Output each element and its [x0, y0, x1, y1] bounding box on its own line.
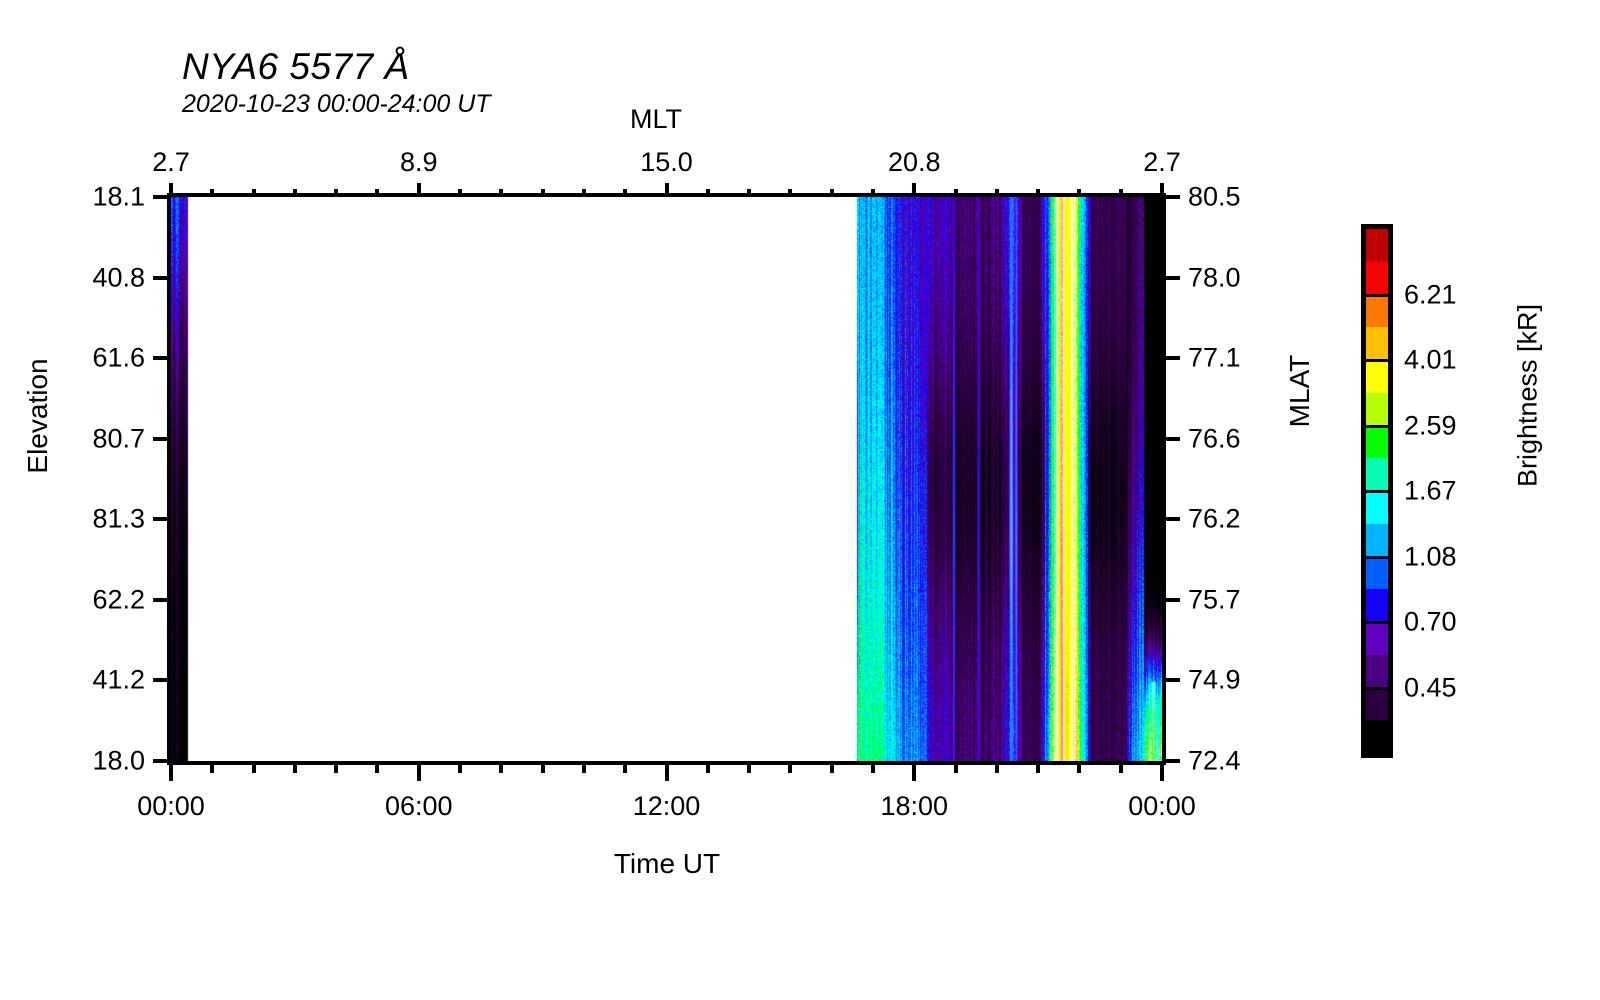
x-axis-minor-tick — [830, 763, 834, 773]
y2-axis-tick — [1162, 195, 1180, 199]
y-axis-tick-label: 62.2 — [0, 584, 145, 615]
x-axis-tick-label: 06:00 — [385, 791, 453, 822]
colorbar-divider — [1366, 490, 1388, 493]
y-axis-tick — [153, 678, 171, 682]
top-axis-tick-label: 8.9 — [400, 147, 438, 178]
top-axis-minor-tick — [623, 189, 627, 197]
colorbar-tick-label: 1.67 — [1404, 476, 1457, 507]
x-axis-major-tick — [912, 763, 916, 781]
x-axis-minor-tick — [210, 763, 214, 773]
y2-axis-tick-label: 76.6 — [1188, 423, 1241, 454]
colorbar-divider — [1366, 556, 1388, 559]
x-axis-major-tick — [665, 763, 669, 781]
x-axis-minor-tick — [541, 763, 545, 773]
colorbar-segment — [1366, 327, 1388, 360]
y2-axis-tick-label: 74.9 — [1188, 665, 1241, 696]
y-axis-tick-label: 61.6 — [0, 343, 145, 374]
y-axis-tick — [153, 276, 171, 280]
top-axis-minor-tick — [293, 189, 297, 197]
top-axis-tick-label: 15.0 — [640, 147, 693, 178]
y2-axis-tick — [1162, 759, 1180, 763]
top-axis-minor-tick — [706, 189, 710, 197]
keogram-figure: NYA6 5577 Å 2020-10-23 00:00-24:00 UT ML… — [0, 0, 1600, 1000]
top-axis-minor-tick — [830, 189, 834, 197]
top-axis-minor-tick — [954, 189, 958, 197]
top-axis-minor-tick — [1119, 189, 1123, 197]
top-axis-minor-tick — [871, 189, 875, 197]
x-axis-minor-tick — [1119, 763, 1123, 773]
colorbar-divider — [1366, 687, 1388, 690]
top-axis-title: MLT — [630, 104, 682, 135]
y-axis-tick — [153, 356, 171, 360]
colorbar-tick-label: 0.70 — [1404, 607, 1457, 638]
colorbar-segment — [1366, 491, 1388, 524]
keogram-image — [171, 197, 1162, 761]
colorbar-segment — [1366, 262, 1388, 295]
top-axis-minor-tick — [788, 189, 792, 197]
colorbar-axis-title: Brightness [kR] — [1513, 236, 1544, 556]
x-axis-tick-label: 12:00 — [633, 791, 701, 822]
y-axis-tick-label: 18.0 — [0, 746, 145, 777]
y2-axis-tick — [1162, 437, 1180, 441]
colorbar-segment — [1366, 622, 1388, 655]
colorbar-divider — [1366, 621, 1388, 624]
colorbar-segment — [1366, 426, 1388, 459]
top-axis-minor-tick — [210, 189, 214, 197]
y2-axis-tick-label: 77.1 — [1188, 343, 1241, 374]
y-axis-tick-label: 80.7 — [0, 423, 145, 454]
y2-axis-tick — [1162, 356, 1180, 360]
x-axis-minor-tick — [706, 763, 710, 773]
colorbar-segment — [1366, 688, 1388, 721]
colorbar-segment — [1366, 524, 1388, 557]
keogram-canvas — [171, 197, 1162, 761]
colorbar-tick-label: 6.21 — [1404, 279, 1457, 310]
y2-axis-tick-label: 80.5 — [1188, 182, 1241, 213]
colorbar-divider — [1366, 294, 1388, 297]
y2-axis-tick — [1162, 678, 1180, 682]
x-axis-minor-tick — [458, 763, 462, 773]
plot-area — [167, 193, 1166, 765]
y-axis-title: Elevation — [22, 306, 54, 526]
colorbar-tick-label: 0.45 — [1404, 672, 1457, 703]
colorbar-tick-label: 2.59 — [1404, 410, 1457, 441]
colorbar-segment — [1366, 393, 1388, 426]
top-axis-tick-label: 20.8 — [888, 147, 941, 178]
colorbar-segment — [1366, 295, 1388, 328]
top-axis-major-tick — [417, 183, 421, 197]
x-axis-minor-tick — [995, 763, 999, 773]
x-axis-minor-tick — [252, 763, 256, 773]
y2-axis-title: MLAT — [1284, 281, 1316, 501]
x-axis-major-tick — [1160, 763, 1164, 781]
y-axis-tick-label: 81.3 — [0, 504, 145, 535]
colorbar-segment — [1366, 557, 1388, 590]
top-axis-tick-label: 2.7 — [152, 147, 190, 178]
colorbar-segment — [1366, 720, 1388, 753]
top-axis-major-tick — [665, 183, 669, 197]
y-axis-tick-label: 40.8 — [0, 262, 145, 293]
y2-axis-tick — [1162, 517, 1180, 521]
x-axis-minor-tick — [582, 763, 586, 773]
top-axis-minor-tick — [582, 189, 586, 197]
top-axis-minor-tick — [375, 189, 379, 197]
colorbar-segment — [1366, 360, 1388, 393]
x-axis-minor-tick — [499, 763, 503, 773]
colorbar-tick-label: 1.08 — [1404, 541, 1457, 572]
y-axis-tick — [153, 598, 171, 602]
y-axis-tick — [153, 759, 171, 763]
colorbar-segment — [1366, 458, 1388, 491]
x-axis-minor-tick — [1036, 763, 1040, 773]
top-axis-tick-label: 2.7 — [1143, 147, 1181, 178]
y-axis-tick — [153, 195, 171, 199]
x-axis-title: Time UT — [0, 848, 1334, 880]
top-axis-minor-tick — [458, 189, 462, 197]
x-axis-minor-tick — [788, 763, 792, 773]
x-axis-minor-tick — [375, 763, 379, 773]
top-axis-minor-tick — [995, 189, 999, 197]
page-title: NYA6 5577 Å — [182, 46, 410, 88]
top-axis-minor-tick — [747, 189, 751, 197]
top-axis-minor-tick — [1036, 189, 1040, 197]
top-axis-minor-tick — [1077, 189, 1081, 197]
colorbar-segment — [1366, 655, 1388, 688]
x-axis-minor-tick — [747, 763, 751, 773]
x-axis-major-tick — [169, 763, 173, 781]
colorbar — [1361, 224, 1393, 758]
x-axis-tick-label: 00:00 — [1128, 791, 1196, 822]
y2-axis-tick — [1162, 598, 1180, 602]
top-axis-minor-tick — [541, 189, 545, 197]
x-axis-tick-label: 00:00 — [137, 791, 205, 822]
colorbar-divider — [1366, 425, 1388, 428]
colorbar-divider — [1366, 359, 1388, 362]
colorbar-segment — [1366, 229, 1388, 262]
page-subtitle: 2020-10-23 00:00-24:00 UT — [182, 90, 491, 119]
colorbar-tick-label: 4.01 — [1404, 345, 1457, 376]
x-axis-minor-tick — [954, 763, 958, 773]
x-axis-major-tick — [417, 763, 421, 781]
x-axis-tick-label: 18:00 — [880, 791, 948, 822]
y2-axis-tick-label: 72.4 — [1188, 746, 1241, 777]
top-axis-minor-tick — [252, 189, 256, 197]
x-axis-minor-tick — [293, 763, 297, 773]
y2-axis-tick-label: 75.7 — [1188, 584, 1241, 615]
y-axis-tick-label: 18.1 — [0, 182, 145, 213]
y2-axis-tick-label: 76.2 — [1188, 504, 1241, 535]
top-axis-minor-tick — [334, 189, 338, 197]
colorbar-segment — [1366, 589, 1388, 622]
x-axis-minor-tick — [623, 763, 627, 773]
y-axis-tick — [153, 517, 171, 521]
x-axis-minor-tick — [871, 763, 875, 773]
top-axis-major-tick — [912, 183, 916, 197]
top-axis-minor-tick — [499, 189, 503, 197]
y2-axis-tick-label: 78.0 — [1188, 262, 1241, 293]
y2-axis-tick — [1162, 276, 1180, 280]
y-axis-tick — [153, 437, 171, 441]
x-axis-minor-tick — [334, 763, 338, 773]
x-axis-minor-tick — [1077, 763, 1081, 773]
y-axis-tick-label: 41.2 — [0, 665, 145, 696]
colorbar-gradient — [1366, 229, 1388, 753]
